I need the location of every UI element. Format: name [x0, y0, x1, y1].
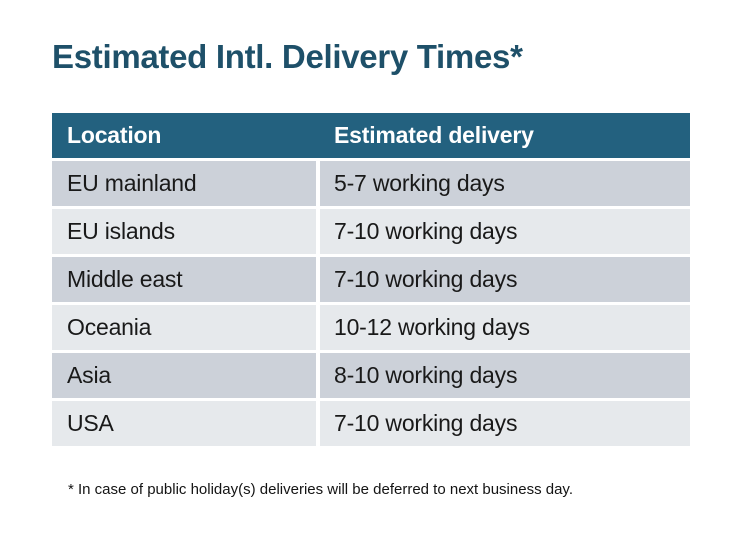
table-header-label-delivery: Estimated delivery [334, 124, 534, 147]
table-row: EU mainland 5-7 working days [52, 161, 690, 206]
table-header-cell-location: Location [52, 113, 316, 158]
delivery-times-table: Location Estimated delivery EU mainland … [52, 113, 690, 446]
table-cell-delivery: 7-10 working days [320, 257, 690, 302]
table-header-label-location: Location [67, 124, 161, 147]
table-header-cell-delivery: Estimated delivery [320, 113, 690, 158]
table-cell-delivery-text: 7-10 working days [334, 220, 517, 243]
table-cell-location: Oceania [52, 305, 316, 350]
table-cell-location-text: USA [67, 412, 114, 435]
table-cell-delivery: 7-10 working days [320, 209, 690, 254]
table-cell-location: USA [52, 401, 316, 446]
table-row: EU islands 7-10 working days [52, 209, 690, 254]
table-cell-delivery-text: 5-7 working days [334, 172, 505, 195]
table-row: Middle east 7-10 working days [52, 257, 690, 302]
table-cell-delivery-text: 7-10 working days [334, 412, 517, 435]
table-cell-delivery: 5-7 working days [320, 161, 690, 206]
table-cell-location-text: EU islands [67, 220, 175, 243]
table-cell-location-text: Middle east [67, 268, 182, 291]
delivery-times-page: Estimated Intl. Delivery Times* Location… [0, 0, 745, 536]
table-cell-delivery: 10-12 working days [320, 305, 690, 350]
table-cell-location-text: Oceania [67, 316, 151, 339]
table-cell-location: Asia [52, 353, 316, 398]
table-cell-delivery-text: 10-12 working days [334, 316, 530, 339]
table-cell-location: EU mainland [52, 161, 316, 206]
table-cell-delivery: 7-10 working days [320, 401, 690, 446]
table-header-row: Location Estimated delivery [52, 113, 690, 158]
table-cell-delivery-text: 7-10 working days [334, 268, 517, 291]
table-cell-location-text: EU mainland [67, 172, 196, 195]
table-row: Asia 8-10 working days [52, 353, 690, 398]
table-cell-location: EU islands [52, 209, 316, 254]
table-cell-delivery-text: 8-10 working days [334, 364, 517, 387]
table-row: USA 7-10 working days [52, 401, 690, 446]
table-row: Oceania 10-12 working days [52, 305, 690, 350]
table-cell-location: Middle east [52, 257, 316, 302]
footnote-text: * In case of public holiday(s) deliverie… [68, 480, 573, 500]
page-title: Estimated Intl. Delivery Times* [52, 36, 523, 78]
table-cell-delivery: 8-10 working days [320, 353, 690, 398]
table-cell-location-text: Asia [67, 364, 111, 387]
